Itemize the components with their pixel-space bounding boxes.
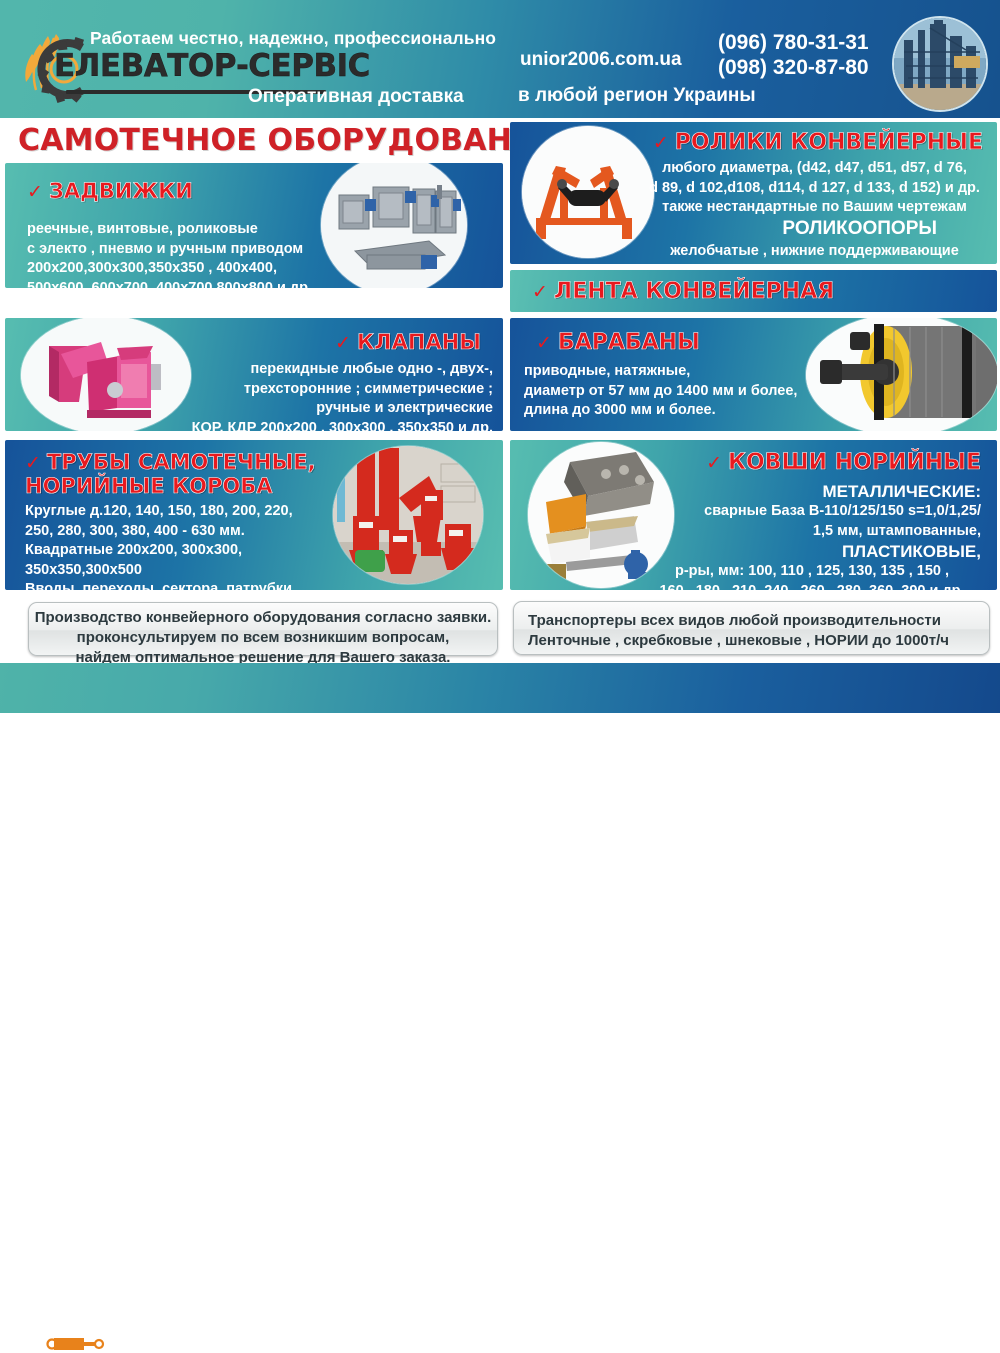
subheading-roller-supports: РОЛИКООПОРЫ [782, 218, 937, 240]
subheading-metal-buckets: МЕТАЛЛИЧЕСКИЕ: [822, 482, 981, 502]
body-gate-valves: реечные, винтовые, роликовые с электо , … [27, 220, 317, 288]
section-conveyor-rollers: ✓РОЛИКИ КОНВЕЙЕРНЫЕ любого диаметра, (d4… [510, 122, 997, 264]
left-info-line-1: Производство конвейерного оборудования с… [29, 608, 497, 628]
page-header: ЕЛЕВАТОР-СЕРВІС Работаем честно, надежно… [0, 0, 1000, 118]
orange-roller-support-photo [522, 126, 654, 258]
heading-gate-valves: ✓ЗАДВИЖКИ [27, 179, 193, 203]
heading-drums: ✓БАРАБАНЫ [536, 330, 700, 355]
heading-elevator-buckets: ✓КОВШИ НОРИЙНЫЕ [706, 450, 981, 475]
check-icon: ✓ [706, 452, 722, 474]
heading-flap-valves: ✓КЛАПАНЫ [335, 330, 481, 354]
header-website-link[interactable]: unior2006.com.ua [520, 49, 682, 71]
body-roller-supports: желобчатые , нижние поддерживающие [642, 242, 987, 262]
check-icon: ✓ [536, 332, 552, 354]
check-icon: ✓ [25, 452, 41, 474]
section-gate-valves: ✓ЗАДВИЖКИ реечные, винтовые, роликовые с… [5, 163, 503, 288]
right-info-line-1: Транспортеры всех видов любой производит… [528, 611, 989, 631]
section-conveyor-belt: ✓ЛЕНТА КОНВЕЙЕРНАЯ [510, 270, 997, 312]
header-phone-1[interactable]: (096) 780-31-31 [718, 31, 869, 55]
left-info-box: Производство конвейерного оборудования с… [28, 602, 498, 656]
header-phone-2[interactable]: (098) 320-87-80 [718, 56, 869, 80]
body-flap-valves: перекидные любые одно -, двух-, трехстор… [133, 360, 493, 431]
heading-gravity-pipes-line2: НОРИЙНЫЕ КОРОБА [25, 474, 272, 498]
left-banner-title-text: САМОТЕЧНОЕ ОБОРУДОВАНИЕ [18, 123, 558, 158]
hydraulic-cylinder-icon [44, 1335, 106, 1353]
section-drums: ✓БАРАБАНЫ приводные, натяжные, диаметр о… [510, 318, 997, 431]
header-region-text: в любой регион Украины [518, 85, 756, 107]
section-gravity-pipes: ✓ТРУБЫ САМОТЕЧНЫЕ, НОРИЙНЫЕ КОРОБА Кругл… [5, 440, 503, 590]
body-gravity-pipes: Круглые д.120, 140, 150, 180, 200, 220, … [25, 502, 335, 590]
yellow-conveyor-drum-photo [806, 318, 997, 431]
left-info-line-2: проконсультируем по всем возникшим вопро… [29, 628, 497, 648]
logo-wordmark: ЕЛЕВАТОР-СЕРВІС [54, 48, 370, 84]
header-delivery-text: Оперативная доставка [248, 86, 464, 108]
right-info-line-2: Ленточные , скребковые , шнековые , НОРИ… [528, 631, 989, 651]
left-banner-title: САМОТЕЧНОЕ ОБОРУДОВАНИЕ [0, 118, 503, 163]
heading-gravity-pipes-line1: ✓ТРУБЫ САМОТЕЧНЫЕ, [25, 450, 316, 474]
heading-conveyor-rollers: ✓РОЛИКИ КОНВЕЙЕРНЫЕ [653, 130, 983, 155]
advertisement-page: ЕЛЕВАТОР-СЕРВІС Работаем честно, надежно… [0, 0, 1000, 713]
check-icon: ✓ [335, 332, 351, 354]
subheading-plastic-buckets: ПЛАСТИКОВЫЕ, [842, 542, 981, 562]
body-metal-buckets: сварные База В-110/125/150 s=1,0/1,25/ 1… [651, 502, 981, 541]
body-drums: приводные, натяжные, диаметр от 57 мм до… [524, 362, 824, 421]
body-conveyor-rollers: любого диаметра, (d42, d47, d51, d57, d … [642, 159, 987, 218]
body-plastic-buckets: р-ры, мм: 100, 110 , 125, 130, 135 , 150… [637, 562, 987, 590]
footer-text-left: РЕМОНТ гидроцилиндров для сельхозтехники… [116, 1334, 474, 1348]
gate-valves-photo [321, 163, 467, 288]
page-footer: РЕМОНТ гидроцилиндров для сельхозтехники… [0, 663, 1000, 713]
header-elevator-photo [892, 16, 988, 112]
check-icon: ✓ [532, 281, 548, 303]
footer-text-right: комбайнов, спецтехники, телескопических … [508, 1334, 965, 1348]
red-gravity-pipes-photo [333, 446, 483, 584]
header-slogan: Работаем честно, надежно, профессиональн… [90, 28, 496, 49]
section-flap-valves: ✓КЛАПАНЫ перекидные любые одно -, двух-,… [5, 318, 503, 431]
right-info-box: Транспортеры всех видов любой производит… [513, 601, 990, 655]
check-icon: ✓ [653, 132, 669, 154]
heading-conveyor-belt: ✓ЛЕНТА КОНВЕЙЕРНАЯ [532, 279, 834, 304]
check-icon: ✓ [27, 181, 43, 203]
section-elevator-buckets: ✓КОВШИ НОРИЙНЫЕ МЕТАЛЛИЧЕСКИЕ: сварные Б… [510, 440, 997, 590]
